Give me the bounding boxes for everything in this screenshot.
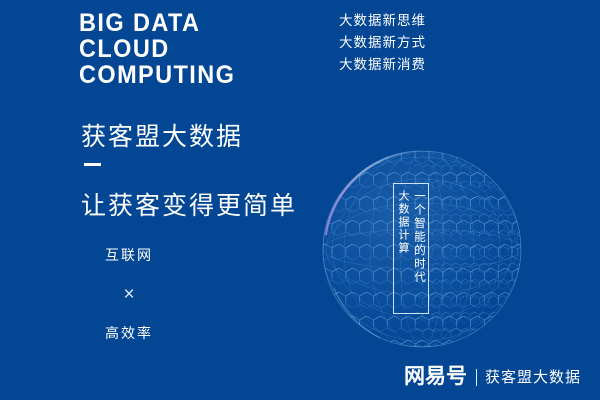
account-name: 获客盟大数据 <box>485 369 581 386</box>
title-dash-rule <box>84 163 101 166</box>
main-subtitle: 让获客变得更简单 <box>81 186 297 222</box>
sphere-label-column-right: 一个智能的时代 <box>412 190 426 285</box>
brand-divider <box>476 369 477 386</box>
tagline-line-1: 大数据新思维 <box>339 10 426 32</box>
english-headline-line-3: COMPUTING <box>79 62 235 88</box>
english-headline-line-1: BIG DATA <box>79 10 235 36</box>
value-formula: 互联网 × 高效率 <box>86 246 172 342</box>
english-headline-line-2: CLOUD <box>79 36 235 62</box>
main-title: 获客盟大数据 <box>81 117 243 153</box>
tagline-line-2: 大数据新方式 <box>339 32 426 54</box>
formula-second-term: 高效率 <box>86 324 172 342</box>
footer-brand: 网易号 获客盟大数据 <box>404 364 581 390</box>
english-headline: BIG DATA CLOUD COMPUTING <box>79 10 235 88</box>
netease-logo: 网易号 <box>404 366 467 388</box>
sphere-label-column-left: 大数据计算 <box>396 190 410 255</box>
poster-canvas: BIG DATA CLOUD COMPUTING 大数据新思维 大数据新方式 大… <box>0 0 600 400</box>
tagline-list: 大数据新思维 大数据新方式 大数据新消费 <box>339 10 426 76</box>
tagline-line-3: 大数据新消费 <box>339 54 426 76</box>
sphere-label-box: 一个智能的时代 大数据计算 <box>393 183 429 314</box>
formula-first-term: 互联网 <box>86 246 172 264</box>
multiply-icon: × <box>86 285 172 304</box>
